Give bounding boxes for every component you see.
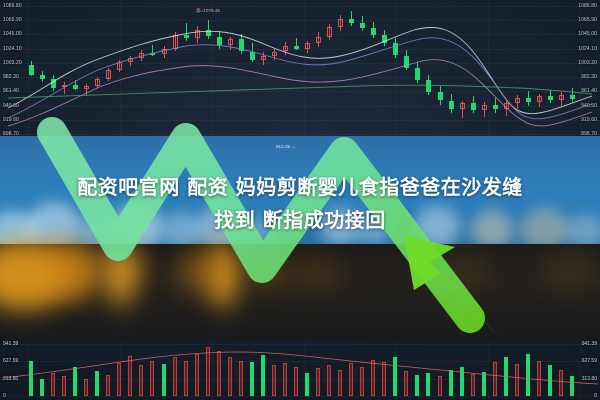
volume-bar	[95, 371, 99, 396]
price-axis-label-right: 1065.90	[578, 17, 597, 23]
volume-bar	[449, 370, 453, 397]
candle-body	[537, 96, 542, 101]
candlestick	[438, 0, 444, 140]
price-axis-label-left: 1065.90	[3, 17, 22, 23]
volume-bar	[559, 370, 563, 397]
candle-body	[404, 56, 409, 68]
volume-bar	[294, 367, 298, 396]
volume-bar	[471, 374, 475, 396]
volume-bar	[73, 367, 77, 396]
candlestick	[250, 0, 256, 140]
candle-body	[338, 19, 343, 27]
candle-body	[349, 19, 354, 23]
candlestick	[404, 0, 410, 140]
candlestick	[29, 0, 35, 140]
volume-bar	[316, 368, 320, 396]
volume-bar	[548, 365, 552, 396]
price-axis-label-right: 961.40	[581, 88, 597, 94]
candle-body	[426, 80, 431, 92]
candlestick	[338, 0, 344, 140]
candle-body	[40, 75, 45, 80]
candle-body	[415, 68, 420, 80]
candle-body	[228, 39, 233, 44]
candle-body	[283, 46, 288, 51]
volume-bar	[482, 372, 486, 396]
price-axis-label-left: 1086.80	[3, 3, 22, 9]
price-axis-label-left: 961.40	[3, 88, 19, 94]
candle-body	[217, 37, 222, 45]
candlestick	[162, 0, 168, 140]
volume-bar	[526, 354, 530, 396]
volume-bar	[173, 357, 177, 396]
candlestick	[360, 0, 366, 140]
candle-body	[360, 23, 365, 28]
candlestick	[139, 0, 145, 140]
headline-line-2: 找到 断指成功接回	[0, 204, 600, 237]
candle-body	[471, 103, 476, 110]
candlestick	[426, 0, 432, 140]
candlestick	[195, 0, 201, 140]
candlestick	[184, 0, 190, 140]
price-axis-label-right: 1024.10	[578, 46, 597, 52]
candlestick	[393, 0, 399, 140]
price-axis-label-right: 940.50	[581, 103, 597, 109]
photo-overlay-band	[0, 136, 600, 340]
candle-body	[570, 95, 575, 99]
amber-glow	[436, 248, 492, 292]
candlestick	[51, 0, 57, 140]
candle-body	[261, 56, 266, 60]
candle-body	[515, 98, 520, 103]
candle-body	[117, 62, 122, 70]
candlestick	[84, 0, 90, 140]
gridline	[0, 361, 600, 362]
volume-bar	[40, 379, 44, 396]
price-axis-label-left: 1003.20	[3, 60, 22, 66]
last-price-annotation: 912.25 →	[276, 144, 296, 149]
volume-bar	[515, 364, 519, 396]
price-axis-label-left: 1024.10	[3, 46, 22, 52]
candle-body	[239, 39, 244, 51]
price-axis-label-right: 1003.20	[578, 60, 597, 66]
candle-body	[150, 53, 155, 55]
candlestick	[449, 0, 455, 140]
candle-body	[393, 43, 398, 55]
amber-glow	[108, 244, 134, 308]
volume-bar	[84, 379, 88, 396]
price-axis-label-left: 982.30	[3, 74, 19, 80]
candle-body	[206, 30, 211, 37]
candle-body	[84, 86, 89, 89]
amber-glow	[246, 250, 286, 290]
headline: 配资吧官网 配资 妈妈剪断婴儿食指爸爸在沙发缝 找到 断指成功接回	[0, 171, 600, 237]
candlestick	[305, 0, 311, 140]
candle-body	[29, 65, 34, 75]
candle-body	[316, 37, 321, 44]
candle-body	[250, 52, 255, 60]
candle-body	[173, 35, 178, 49]
candlestick	[327, 0, 333, 140]
candlestick	[106, 0, 112, 140]
volume-bar	[327, 365, 331, 396]
candlestick	[95, 0, 101, 140]
volume-bar	[504, 357, 508, 396]
candlestick	[504, 0, 510, 140]
candlestick	[173, 0, 179, 140]
volume-bar	[228, 357, 232, 396]
candle-body	[382, 35, 387, 43]
candlestick	[283, 0, 289, 140]
candle-body	[162, 49, 167, 54]
price-axis-label-left: 919.60	[3, 117, 19, 123]
amber-glow	[176, 248, 224, 294]
volume-bar	[51, 373, 55, 396]
candle-body	[73, 85, 78, 89]
candlestick	[40, 0, 46, 140]
volume-bar	[305, 373, 309, 396]
candlestick	[371, 0, 377, 140]
candle-body	[460, 103, 465, 108]
volume-bar	[393, 357, 397, 396]
candle-body	[128, 58, 133, 62]
candle-body	[62, 85, 67, 88]
candlestick	[482, 0, 488, 140]
candlestick	[526, 0, 532, 140]
volume-bar	[460, 367, 464, 396]
volume-bar	[217, 351, 221, 396]
amber-glow	[42, 242, 104, 300]
headline-line-1: 配资吧官网 配资 妈妈剪断婴儿食指爸爸在沙发缝	[0, 171, 600, 204]
candlestick	[239, 0, 245, 140]
candlestick	[206, 0, 212, 140]
gridline	[0, 344, 600, 345]
candlestick	[316, 0, 322, 140]
candle-body	[184, 35, 189, 38]
candlestick	[73, 0, 79, 140]
volume-bar	[338, 370, 342, 397]
candlestick	[128, 0, 134, 140]
price-axis-label-right: 919.60	[581, 117, 597, 123]
candle-body	[327, 27, 332, 37]
volume-bar	[206, 347, 210, 396]
candle-body	[139, 53, 144, 58]
candle-body	[305, 43, 310, 48]
candlestick	[294, 0, 300, 140]
candlestick	[117, 0, 123, 140]
candle-body	[559, 95, 564, 100]
amber-glow	[290, 252, 342, 292]
volume-bar	[426, 373, 430, 396]
candle-body	[294, 46, 299, 49]
candle-body	[438, 92, 443, 100]
volume-bar	[162, 364, 166, 396]
price-axis-label-left: 940.50	[3, 103, 19, 109]
price-axis-label-right: 982.30	[581, 74, 597, 80]
candle-body	[195, 30, 200, 38]
candle-body	[449, 101, 454, 109]
volume-bar	[404, 371, 408, 396]
candlestick	[515, 0, 521, 140]
candlestick	[559, 0, 565, 140]
candlestick	[217, 0, 223, 140]
candle-body	[51, 79, 56, 87]
high-price-annotation: 高=1079.45	[196, 8, 220, 14]
volume-bar	[272, 365, 276, 396]
candlestick	[548, 0, 554, 140]
candlestick	[460, 0, 466, 140]
candlestick	[261, 0, 267, 140]
price-axis-label-left: 1045.00	[3, 31, 22, 37]
price-axis-label-right: 1045.00	[578, 31, 597, 37]
candlestick	[537, 0, 543, 140]
screenshot-root: 1086.801086.801065.901065.901045.001045.…	[0, 0, 600, 400]
candlestick	[150, 0, 156, 140]
volume-bar	[195, 354, 199, 396]
candle-body	[272, 52, 277, 56]
candle-body	[95, 79, 100, 87]
candle-wick	[186, 23, 187, 41]
candlestick	[471, 0, 477, 140]
gridline	[0, 396, 600, 397]
candlestick	[415, 0, 421, 140]
candlestick	[228, 0, 234, 140]
candlestick	[62, 0, 68, 140]
candlestick	[570, 0, 576, 140]
candlestick	[272, 0, 278, 140]
candle-body	[371, 28, 376, 35]
candlestick	[493, 0, 499, 140]
amber-glow	[540, 246, 600, 292]
candle-body	[548, 96, 553, 100]
volume-bar	[360, 367, 364, 396]
gridline	[0, 379, 600, 380]
candle-body	[106, 70, 111, 79]
candlestick	[349, 0, 355, 140]
candle-body	[526, 98, 531, 102]
volume-bar	[139, 365, 143, 396]
candle-body	[482, 105, 487, 110]
candle-body	[493, 105, 498, 109]
price-axis-label-right: 1086.80	[578, 3, 597, 9]
candle-body	[504, 103, 509, 108]
candlestick	[382, 0, 388, 140]
